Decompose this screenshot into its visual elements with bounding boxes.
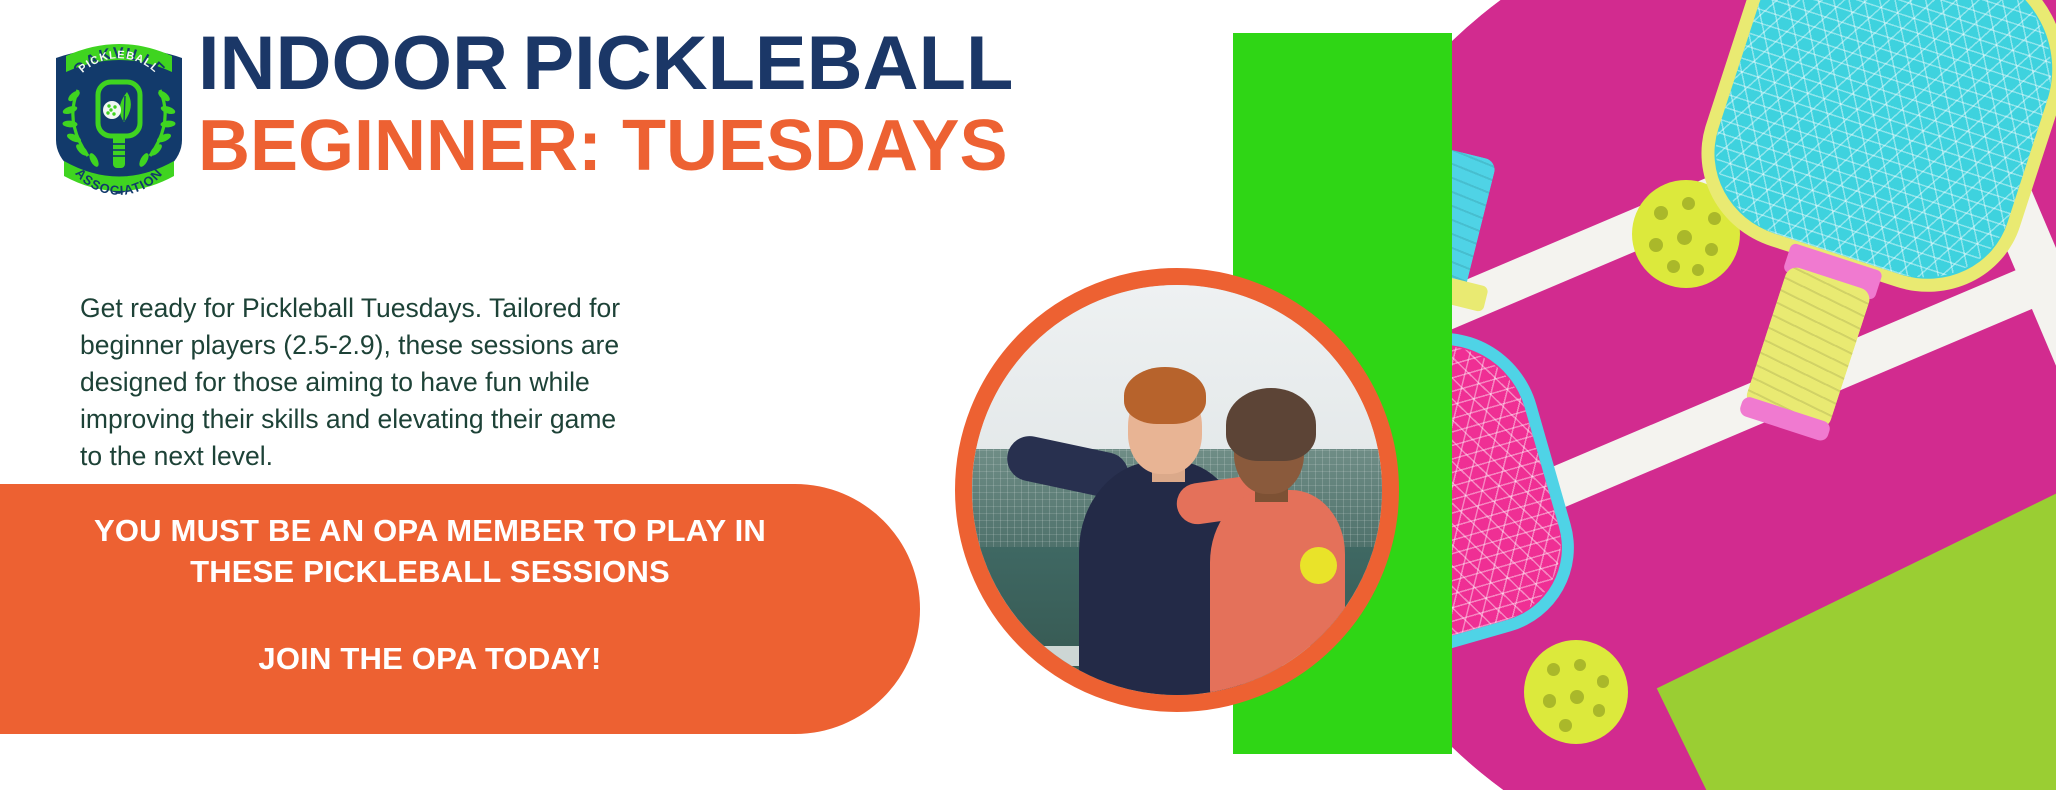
photo-man-hair: [1124, 367, 1206, 424]
photo-woman-hair: [1226, 388, 1316, 462]
membership-cta-banner[interactable]: YOU MUST BE AN OPA MEMBER TO PLAY IN THE…: [0, 484, 920, 734]
headline-line-1: INDOORPICKLEBALL: [198, 24, 1238, 104]
page-title: INDOORPICKLEBALL BEGINNER: TUESDAYS: [198, 24, 1218, 184]
photo-pickleball: [1300, 547, 1337, 584]
teal-paddle-hex-texture: [1693, 0, 2056, 301]
players-photo-circle: [955, 268, 1399, 712]
cta-requirement-line-2: THESE PICKLEBALL SESSIONS: [190, 551, 670, 592]
paddle-photo-panel: [1452, 0, 2056, 790]
cta-requirement-line-1: YOU MUST BE AN OPA MEMBER TO PLAY IN: [94, 510, 766, 551]
paddle-photo-circle-mask: [1452, 0, 2056, 790]
description-paragraph: Get ready for Pickleball Tuesdays. Tailo…: [80, 290, 640, 475]
headline-line-2: BEGINNER: TUESDAYS: [198, 108, 1218, 184]
headline-pickleball: PICKLEBALL: [522, 21, 1013, 106]
join-opa-button[interactable]: JOIN THE OPA TODAY!: [258, 638, 601, 679]
oakville-pickleball-association-logo: OAKVILLE PICKLEBALL ASSOCIATION: [44, 22, 194, 197]
promo-banner: OAKVILLE PICKLEBALL ASSOCIATION INDOORPI…: [0, 0, 2056, 790]
pink-paddle-grip: [1452, 141, 1497, 297]
photo-woman-body: [1210, 490, 1345, 703]
wiffle-ball-bottom: [1524, 640, 1628, 744]
cta-text-wrapper: YOU MUST BE AN OPA MEMBER TO PLAY IN THE…: [0, 484, 860, 734]
headline-indoor: INDOOR: [198, 21, 508, 106]
